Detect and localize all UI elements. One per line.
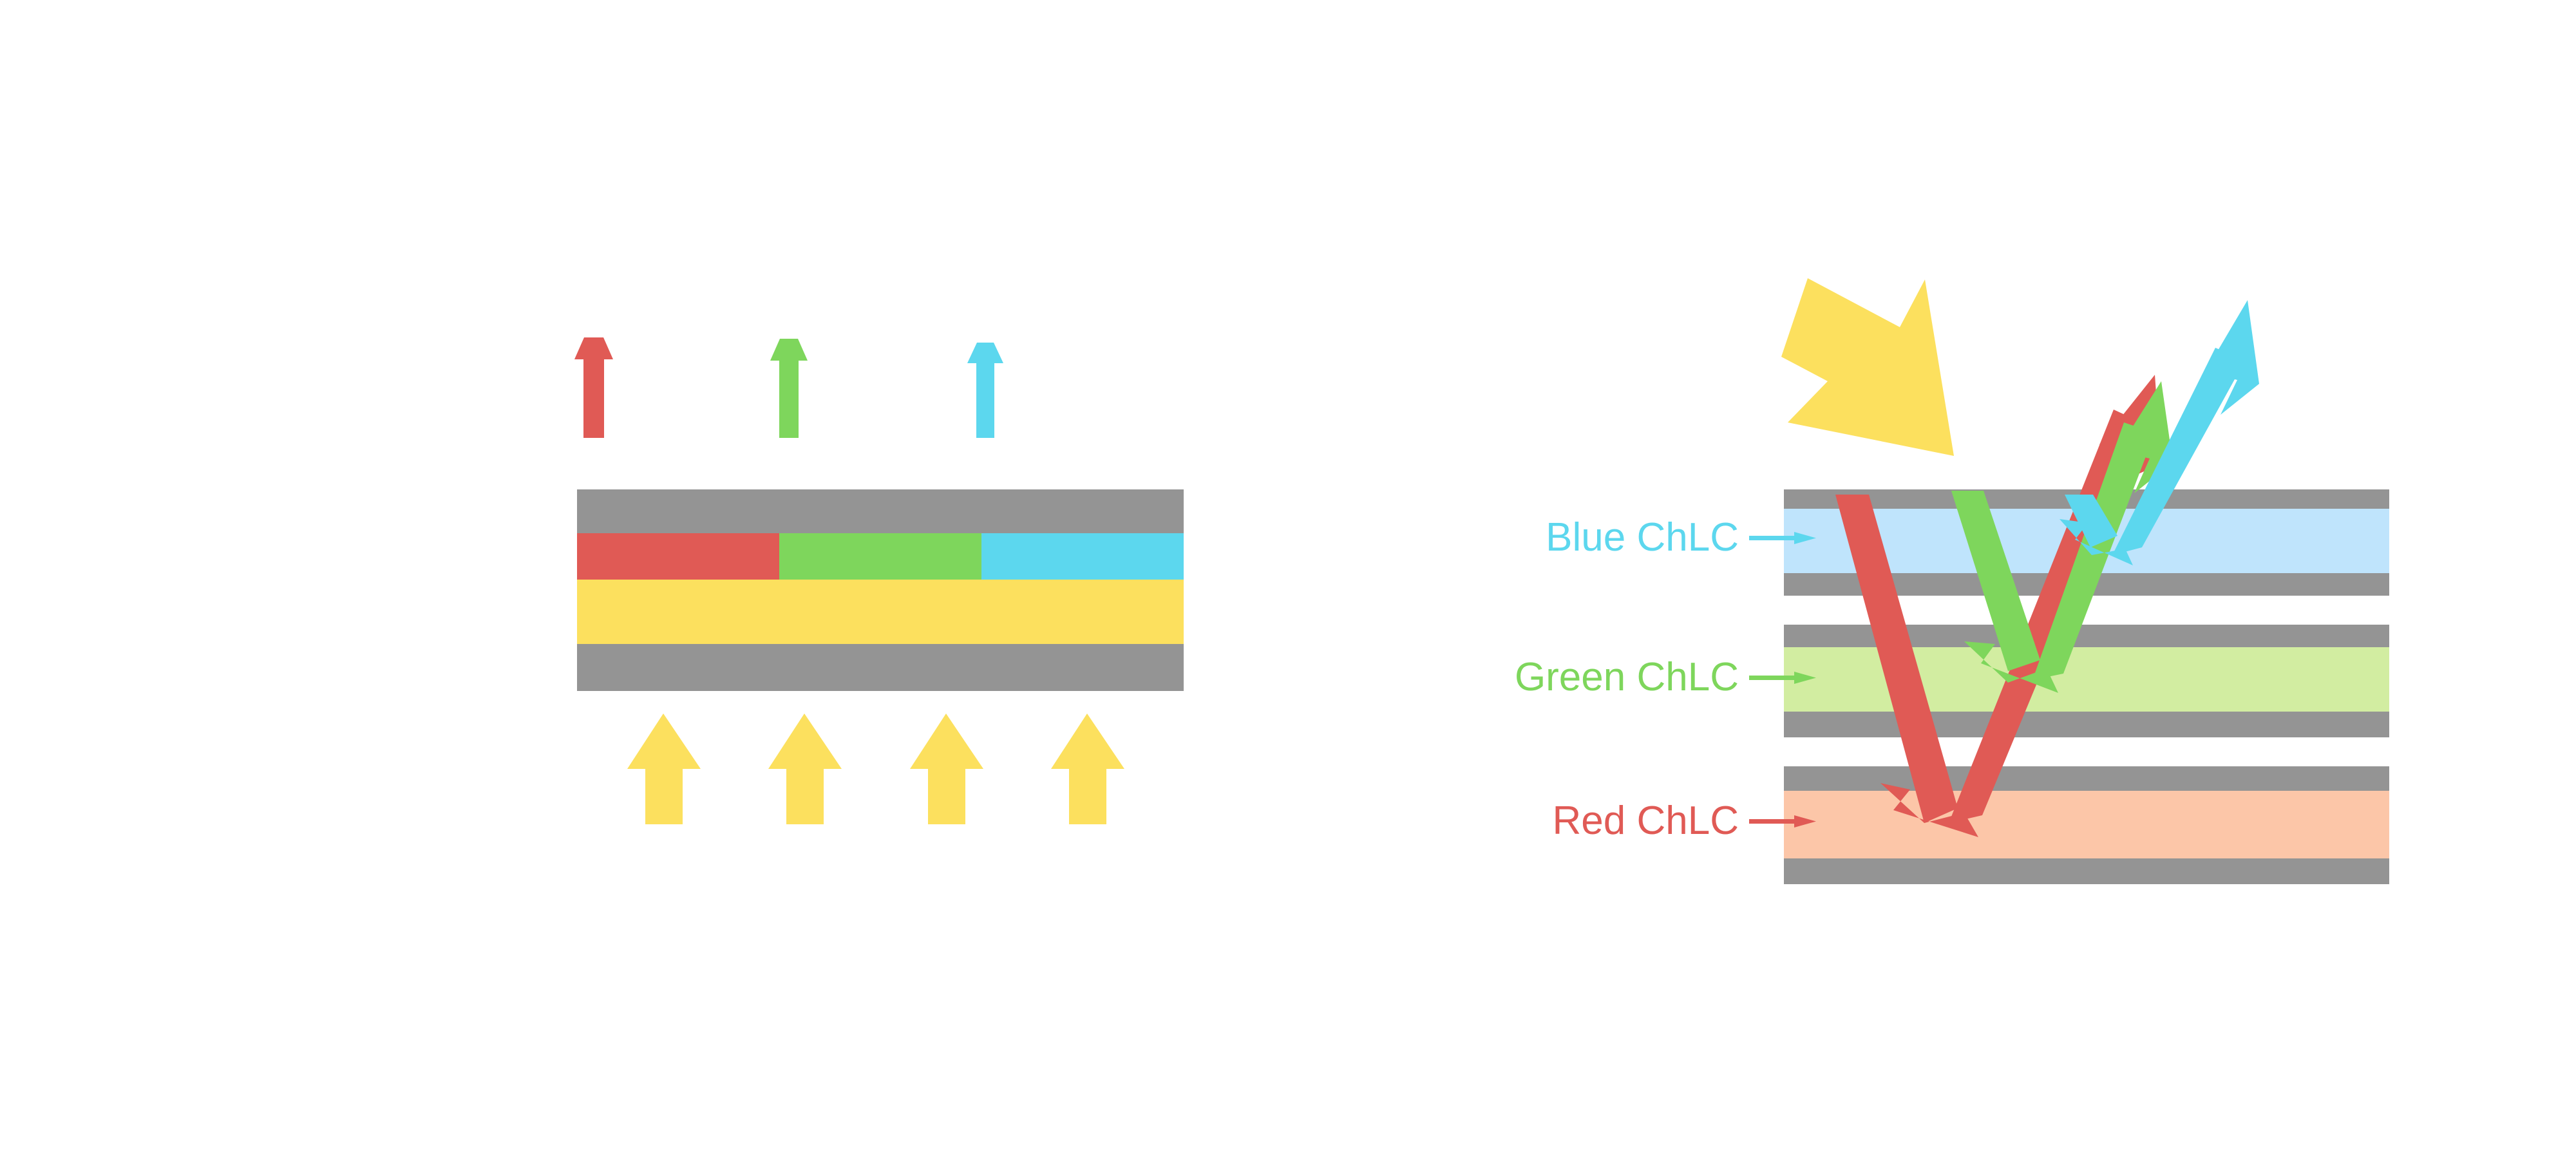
right-panel-reflective: Blue ChLC Green ChLC Red ChLC [1391,258,2396,902]
red-cell [1784,766,2389,884]
color-filter-green [779,533,981,580]
backlight-arrow-3 [910,714,983,824]
stack-left [577,489,1184,691]
backlight-arrow-2 [768,714,842,824]
top-electrode [577,489,1184,533]
color-filter-blue [981,533,1184,580]
red-cell-top-electrode [1784,766,2389,791]
label-red-chlc: Red ChLC [1553,799,1816,843]
red-cell-bottom-electrode [1784,858,2389,884]
backlight-arrow-1 [627,714,701,824]
green-cell-bottom-electrode [1784,712,2389,737]
ambient-light-arrow [1781,278,1954,456]
emitted-arrow-red [574,337,613,438]
label-green-chlc-text: Green ChLC [1515,655,1739,699]
diagram-canvas: Blue ChLC Green ChLC Red ChLC [0,0,2576,1154]
emitted-arrow-green [770,339,808,438]
red-chlc-layer [1784,791,2389,858]
color-filter-red [577,533,779,580]
green-cell [1784,625,2389,737]
label-red-chlc-text: Red ChLC [1553,799,1739,843]
label-blue-chlc-text: Blue ChLC [1546,515,1739,560]
backlight-arrow-4 [1051,714,1124,824]
left-panel-transmissive [541,309,1224,824]
bottom-electrode [577,644,1184,691]
label-blue-chlc: Blue ChLC [1546,515,1816,560]
label-green-chlc: Green ChLC [1515,655,1816,699]
green-chlc-layer [1784,647,2389,712]
emitted-arrow-cyan [967,343,1003,438]
backlight-layer [577,580,1184,644]
